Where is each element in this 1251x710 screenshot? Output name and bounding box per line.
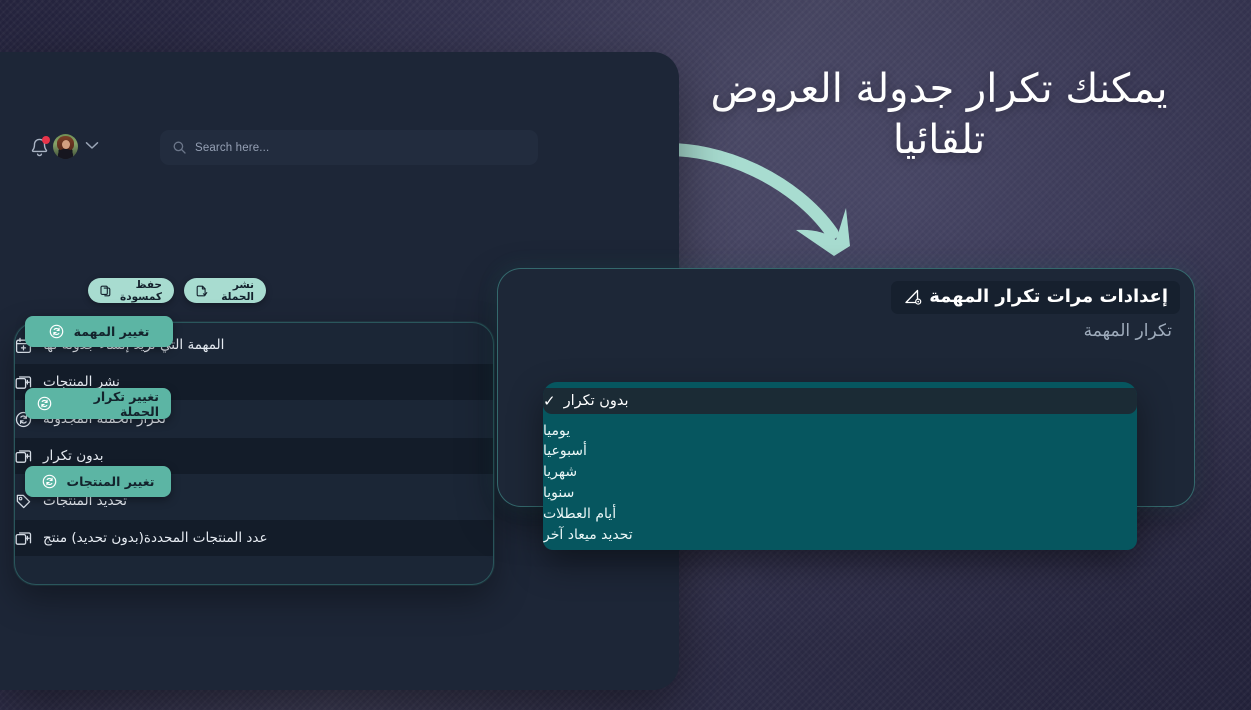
chevron-down-icon[interactable]	[85, 141, 99, 150]
curved-arrow-down-right-icon	[650, 128, 880, 263]
search-input[interactable]: Search here...	[160, 130, 538, 165]
dropdown-option-monthly[interactable]: شهريا	[543, 461, 1137, 482]
avatar-face	[62, 140, 70, 149]
avatar-body	[58, 149, 73, 159]
avatar[interactable]	[53, 134, 78, 159]
dropdown-option-label: أسبوعيا	[543, 443, 587, 459]
publish-campaign-label: نشر الحملة	[215, 279, 254, 303]
repeat-settings-subtitle: تكرار المهمة	[1084, 321, 1172, 341]
search-placeholder: Search here...	[195, 142, 269, 154]
save-draft-label: حفظ كمسودة	[119, 279, 162, 303]
check-icon: ✓	[543, 394, 556, 409]
dropdown-option-label: تحديد ميعاد آخر	[543, 527, 633, 543]
folder-plus-icon	[15, 448, 32, 465]
schedule-form-card: المهمة التي تريد إنشاء جدولة لها نشر الم…	[14, 322, 494, 585]
change-campaign-repeat-label: تغيير تكرار الحملة	[62, 389, 159, 419]
search-icon	[173, 141, 186, 154]
publish-campaign-button[interactable]: نشر الحملة	[184, 278, 266, 303]
bell-icon[interactable]	[30, 137, 49, 158]
folder-plus-icon	[15, 530, 32, 547]
dropdown-option-selected[interactable]: بدون تكرار ✓	[543, 388, 1137, 414]
change-campaign-repeat-button[interactable]: تغيير تكرار الحملة	[25, 388, 171, 419]
copy-document-icon	[100, 285, 112, 297]
dropdown-option-label: يوميا	[543, 423, 570, 439]
dropdown-option-label: سنويا	[543, 485, 574, 501]
repeat-settings-title: إعدادات مرات تكرار المهمة	[929, 286, 1168, 307]
refresh-circle-icon	[49, 324, 64, 339]
refresh-circle-icon	[37, 396, 52, 411]
dropdown-option-weekly[interactable]: أسبوعيا	[543, 440, 1137, 461]
dropdown-option-daily[interactable]: يوميا	[543, 420, 1137, 441]
change-products-button[interactable]: تغيير المنتجات	[25, 466, 171, 497]
change-task-label: تغيير المهمة	[74, 324, 150, 339]
notification-dot	[42, 136, 50, 144]
save-draft-button[interactable]: حفظ كمسودة	[88, 278, 174, 303]
dropdown-option-yearly[interactable]: سنويا	[543, 482, 1137, 503]
dropdown-option-label: أيام العطلات	[543, 506, 616, 522]
dropdown-option-label: بدون تكرار	[564, 393, 629, 409]
repeat-settings-header: إعدادات مرات تكرار المهمة	[891, 281, 1180, 314]
repeat-frequency-dropdown[interactable]: بدون تكرار ✓ يوميا أسبوعيا شهريا سنويا أ…	[543, 382, 1137, 550]
refresh-circle-icon	[42, 474, 57, 489]
change-products-label: تغيير المنتجات	[67, 474, 155, 489]
dropdown-option-holidays[interactable]: أيام العطلات	[543, 503, 1137, 524]
dropdown-option-label: شهريا	[543, 464, 577, 480]
settings-gear-icon	[903, 287, 922, 306]
dropdown-option-custom-date[interactable]: تحديد ميعاد آخر	[543, 524, 1137, 545]
form-row-selected-count[interactable]: عدد المنتجات المحددة(بدون تحديد) منتج	[15, 520, 493, 556]
form-row-selected-count-label: عدد المنتجات المحددة(بدون تحديد) منتج	[43, 530, 268, 546]
publish-document-icon	[196, 285, 208, 297]
change-task-button[interactable]: تغيير المهمة	[25, 316, 173, 347]
form-row-no-repeat-label: بدون تكرار	[43, 448, 104, 464]
